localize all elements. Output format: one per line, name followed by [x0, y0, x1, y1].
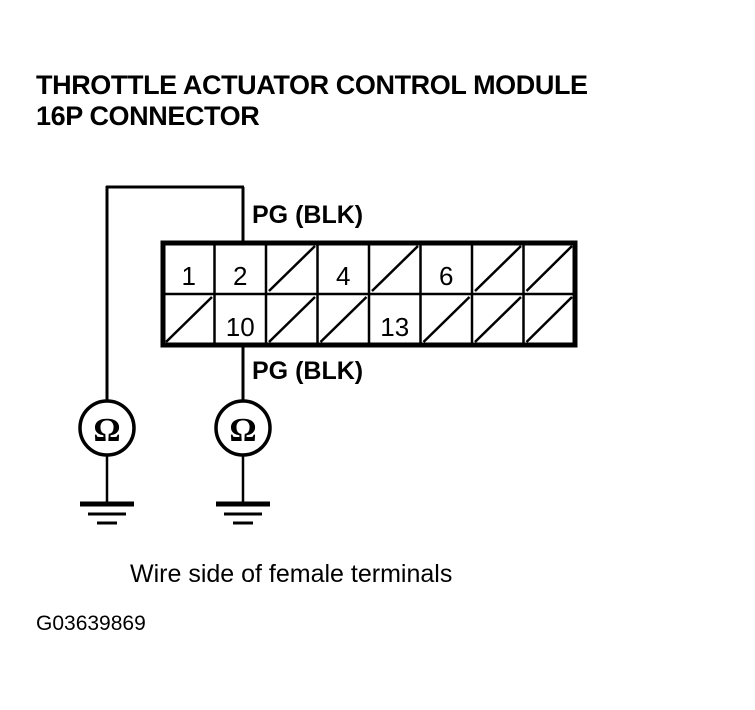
connector-grid: 1 2 4 6 [163, 243, 575, 345]
terminal-number: 13 [380, 312, 409, 342]
figure-id: G03639869 [36, 612, 146, 636]
terminal-number: 4 [336, 261, 350, 291]
connector-schematic: 1 2 4 6 [0, 0, 755, 710]
ground-symbol-left [80, 504, 134, 523]
terminal-number: 10 [226, 312, 255, 342]
wire-label-pg-top: PG (BLK) [252, 201, 363, 230]
wiring-diagram-figure: THROTTLE ACTUATOR CONTROL MODULE 16P CON… [0, 0, 755, 710]
ohm-symbol: Ω [93, 412, 120, 449]
ohmmeter-left: Ω [80, 401, 134, 523]
ohm-symbol: Ω [229, 412, 256, 449]
figure-caption: Wire side of female terminals [130, 560, 452, 589]
wire-label-pg-bottom: PG (BLK) [252, 357, 363, 386]
connector-cell-bottom-10: 10 [226, 312, 255, 342]
connector-cell-top-6: 6 [439, 261, 453, 291]
connector-cell-top-2: 2 [233, 261, 247, 291]
terminal-number: 1 [181, 261, 195, 291]
ohmmeter-right: Ω [216, 401, 270, 523]
ground-symbol-right [216, 504, 270, 523]
connector-cell-top-4: 4 [336, 261, 350, 291]
terminal-number: 2 [233, 261, 247, 291]
connector-cell-top-1: 1 [181, 261, 195, 291]
terminal-number: 6 [439, 261, 453, 291]
connector-cell-bottom-13: 13 [380, 312, 409, 342]
